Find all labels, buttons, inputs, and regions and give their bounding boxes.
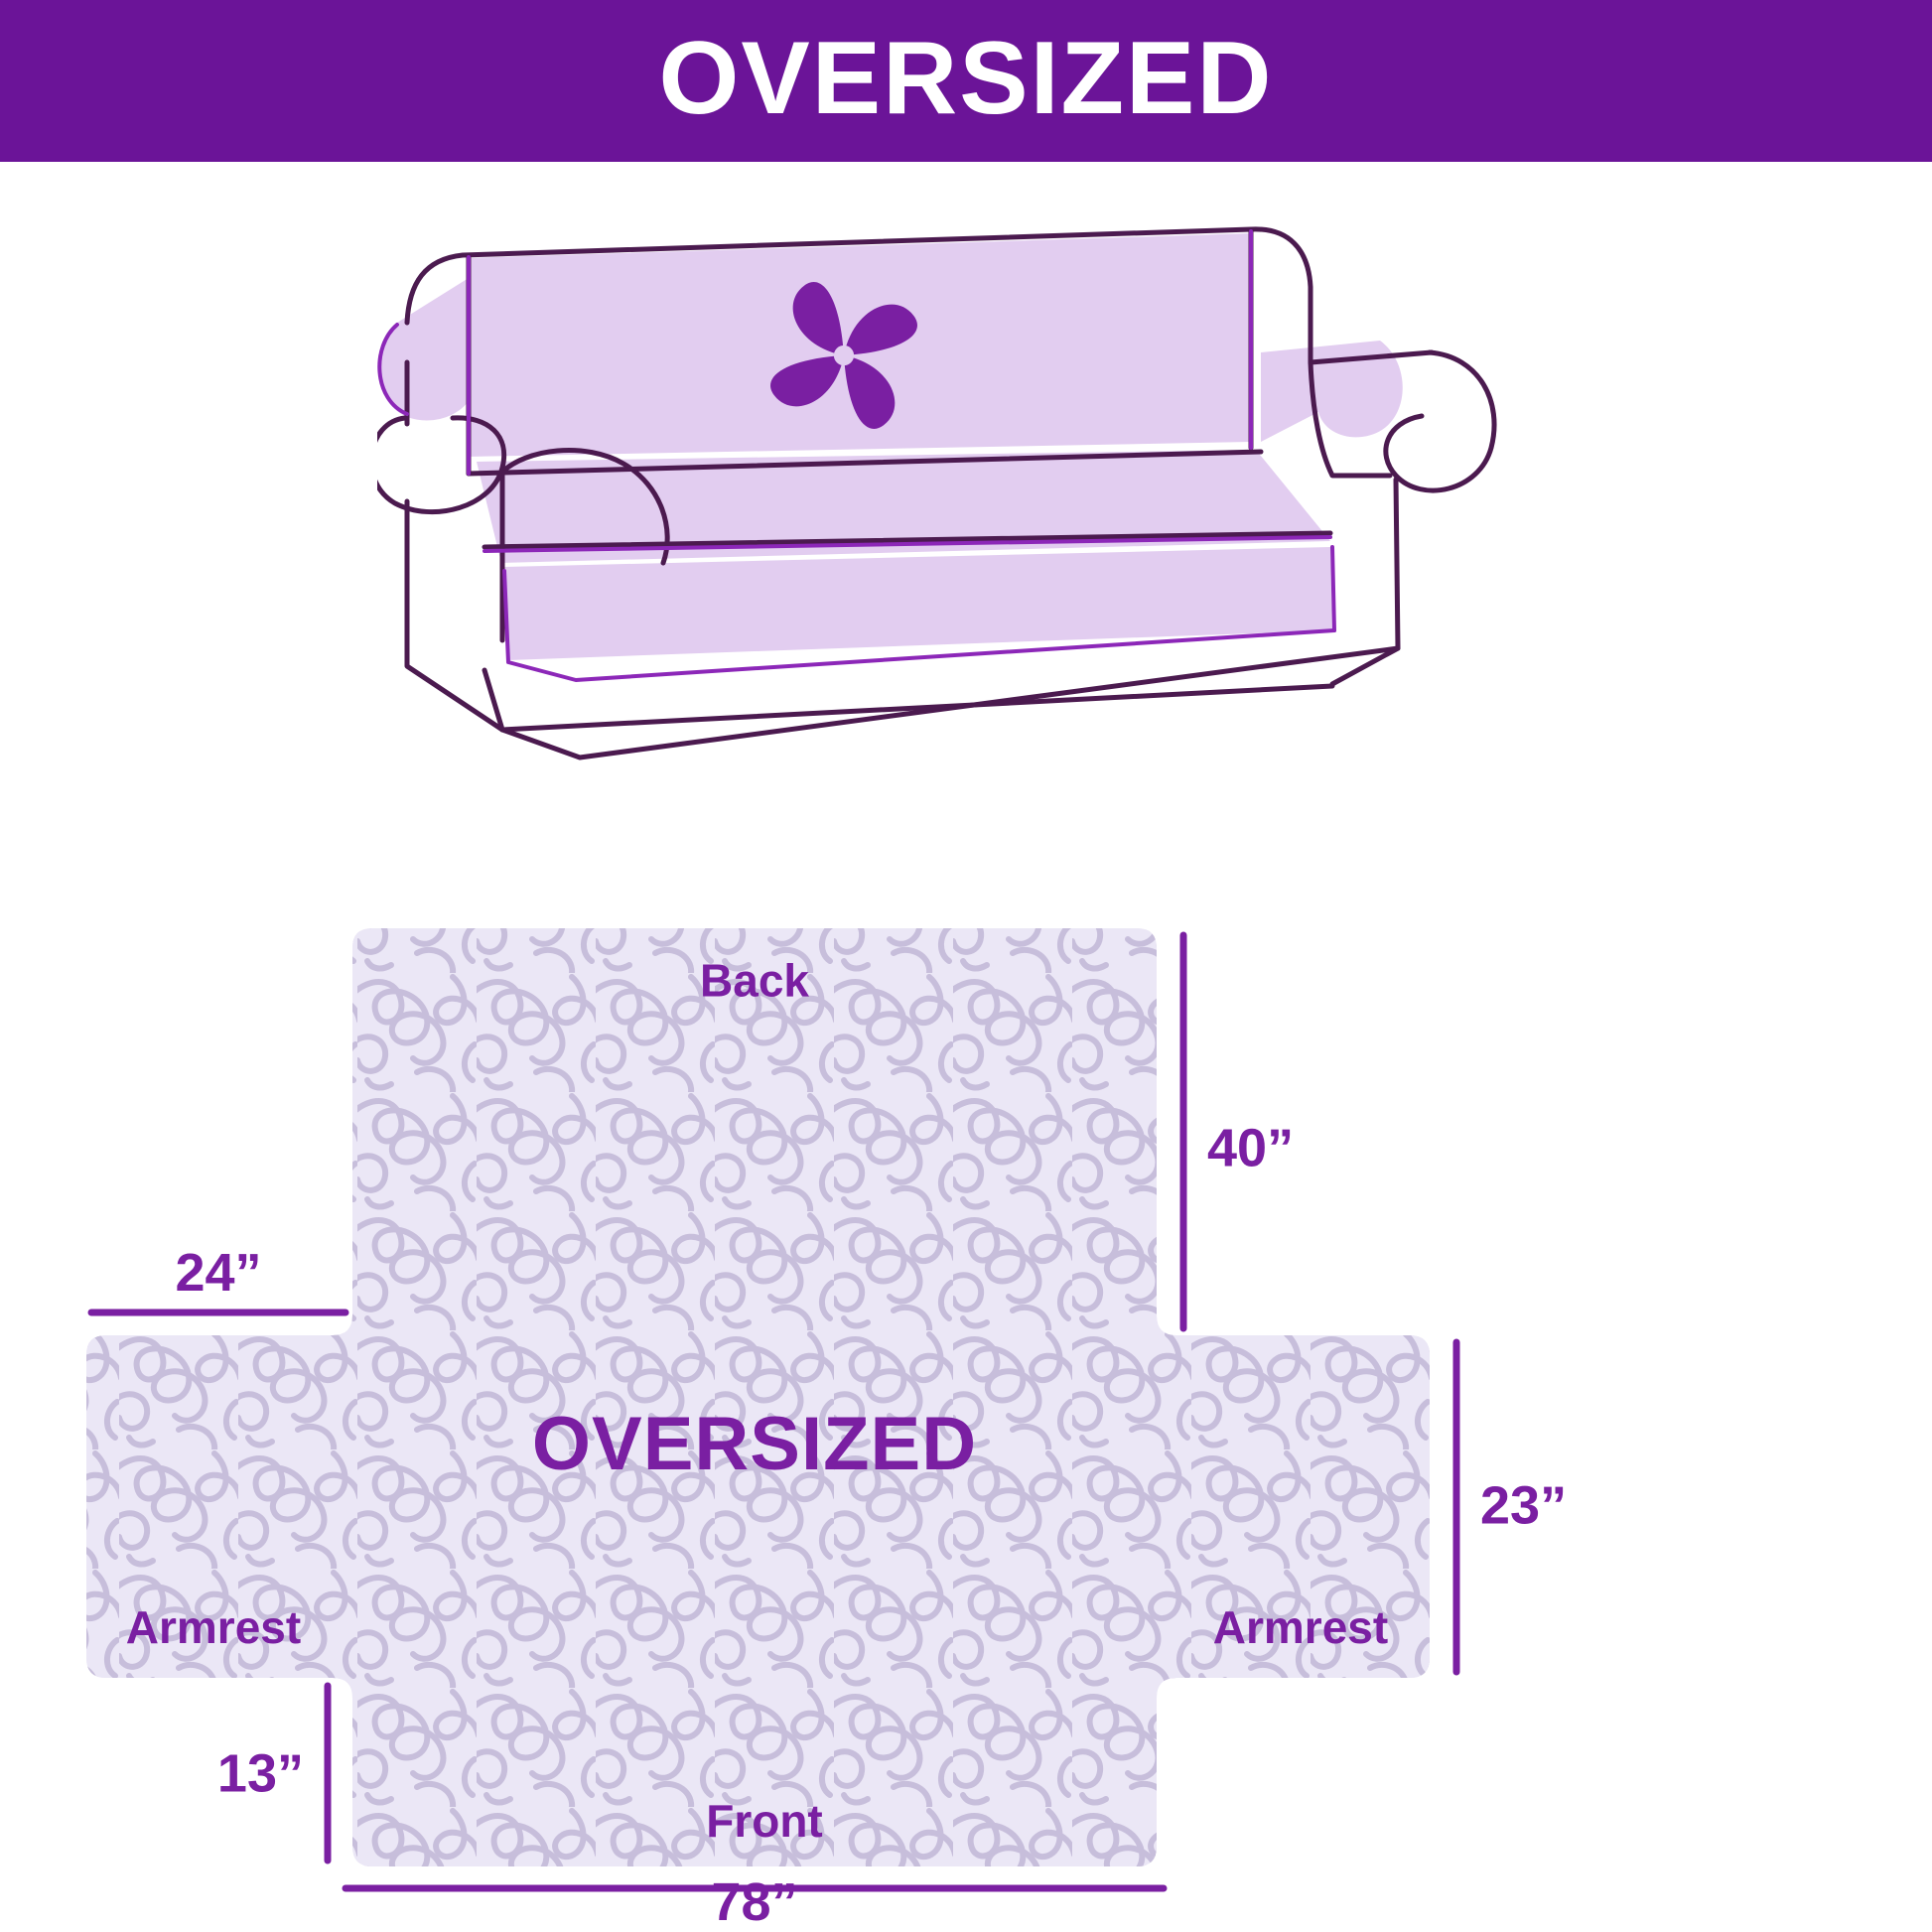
dimension-value-40: 40”	[1207, 1118, 1294, 1177]
flat-lay-dimension-diagram: Back OVERSIZED Armrest Armrest Front 40”…	[0, 854, 1932, 1932]
dimension-front-width: 78”	[345, 1872, 1164, 1932]
banner-title: OVERSIZED	[659, 27, 1274, 130]
dimension-value-78: 78”	[711, 1872, 797, 1932]
cover-cross-shape	[79, 923, 1440, 1876]
header-banner: OVERSIZED	[0, 0, 1932, 162]
label-armrest-left: Armrest	[126, 1601, 301, 1653]
sofa-illustration	[377, 213, 1588, 809]
dimension-back-side-width: 24”	[91, 1243, 345, 1312]
dimension-back-height: 40”	[1183, 935, 1294, 1328]
product-dimension-infographic: OVERSIZED	[0, 0, 1932, 1932]
dimension-value-23: 23”	[1480, 1475, 1567, 1535]
label-center-size: OVERSIZED	[532, 1402, 977, 1486]
label-armrest-right: Armrest	[1213, 1601, 1388, 1653]
dimension-front-drop: 13”	[217, 1686, 328, 1861]
dimension-armrest-height: 23”	[1456, 1342, 1567, 1672]
sofa-skirt-fill	[504, 547, 1332, 660]
label-back: Back	[700, 955, 809, 1007]
label-front: Front	[706, 1795, 823, 1847]
dimension-value-24: 24”	[175, 1243, 261, 1303]
dimension-value-13: 13”	[217, 1743, 304, 1803]
sofa-left-arm-fill	[378, 273, 477, 420]
